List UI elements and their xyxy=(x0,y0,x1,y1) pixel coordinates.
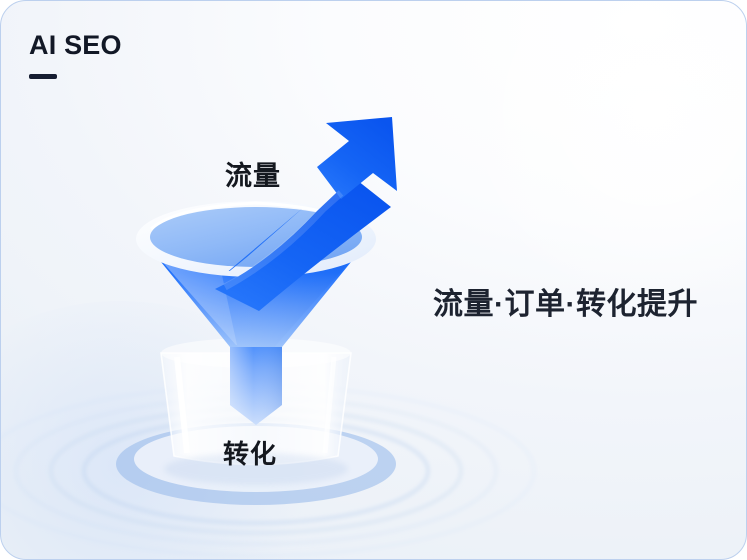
funnel-label-conversion: 转化 xyxy=(223,434,277,471)
title-underline-accent xyxy=(29,74,57,79)
heading-block: AI SEO xyxy=(29,31,122,79)
page-title: AI SEO xyxy=(29,31,122,61)
funnel-label-traffic: 流量 xyxy=(225,154,281,193)
ai-seo-promo-card: AI SEO 流量·订单·转化提升 xyxy=(0,0,747,560)
tagline-text: 流量·订单·转化提升 xyxy=(433,279,698,323)
